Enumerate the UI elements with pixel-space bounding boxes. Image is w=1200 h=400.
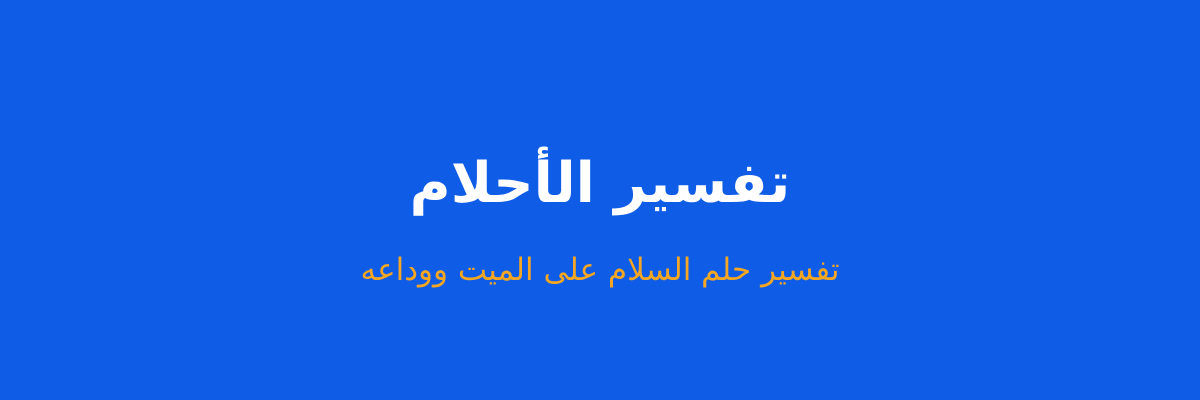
page-title: تفسير الأحلام <box>410 151 791 217</box>
banner-text-group: تفسير الأحلام تفسير حلم السلام على الميت… <box>0 0 1200 290</box>
title-block: تفسير الأحلام <box>410 151 791 217</box>
dream-interpretation-banner: تفسير الأحلام تفسير حلم السلام على الميت… <box>0 0 1200 400</box>
page-subtitle: تفسير حلم السلام على الميت ووداعه <box>361 251 840 290</box>
